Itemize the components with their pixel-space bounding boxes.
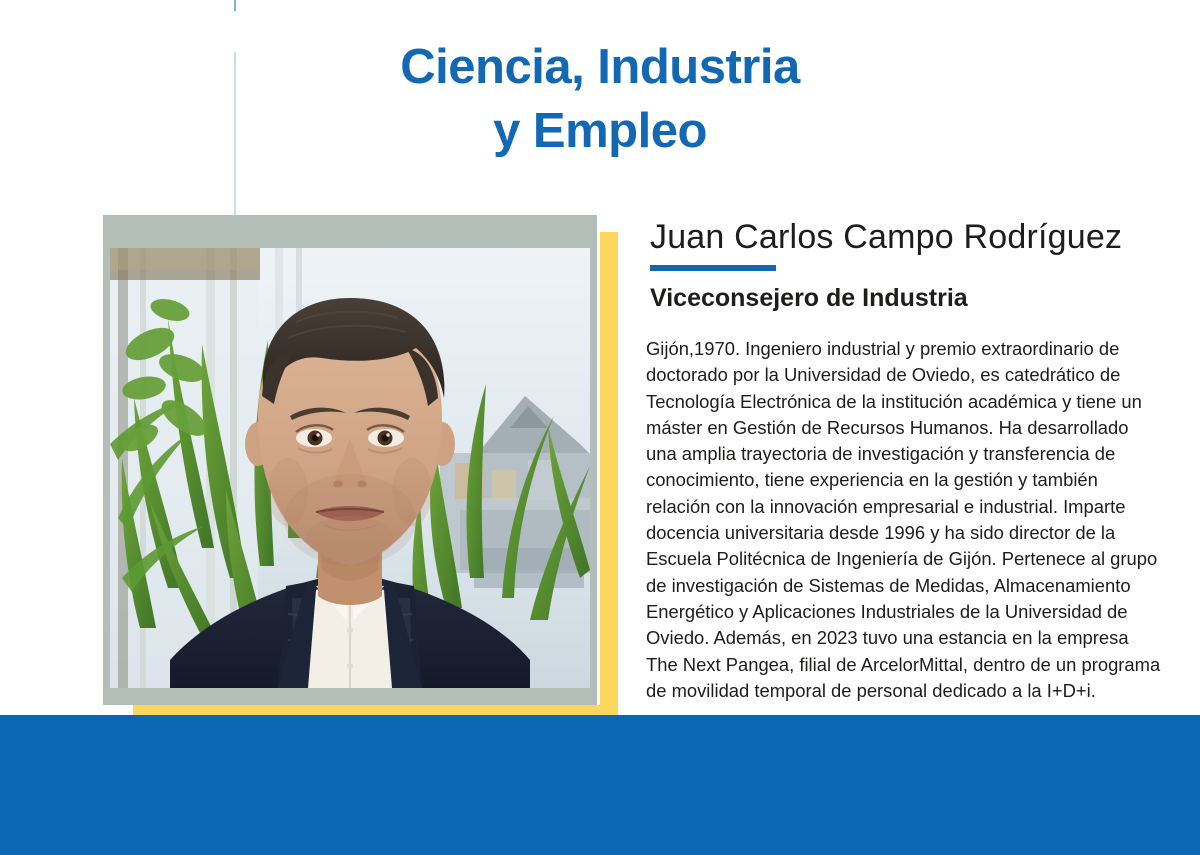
page-title-line-1: Ciencia, Industria: [0, 36, 1200, 100]
page-title-line-2: y Empleo: [0, 100, 1200, 164]
footer-bar: Principado de Asturias: [0, 715, 1200, 855]
decorative-rule-top: [234, 0, 236, 11]
page-title: Ciencia, Industria y Empleo: [0, 36, 1200, 163]
yellow-accent-horizontal: [133, 705, 618, 715]
person-name: Juan Carlos Campo Rodríguez: [650, 218, 1190, 257]
person-biography: Gijón,1970. Ingeniero industrial y premi…: [646, 336, 1164, 704]
person-role: Viceconsejero de Industria: [650, 284, 1190, 313]
yellow-accent-vertical: [600, 232, 618, 715]
name-underline: [650, 265, 776, 271]
profile-card: Ciencia, Industria y Empleo: [0, 0, 1200, 855]
portrait-photo: [110, 248, 590, 688]
